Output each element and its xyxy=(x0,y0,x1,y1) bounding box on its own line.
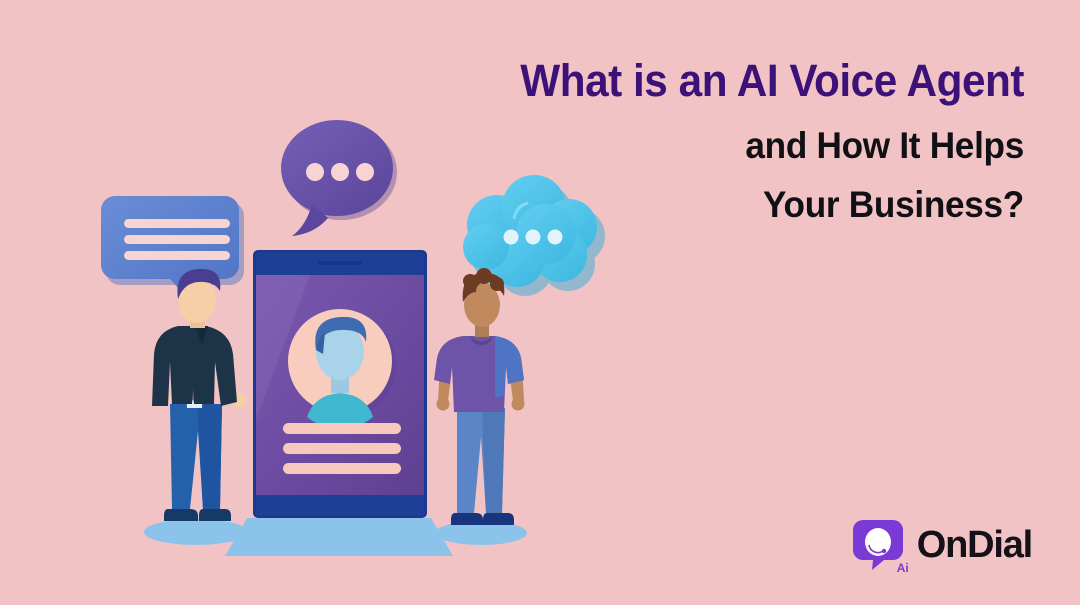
headline-line-2: and How It Helps xyxy=(435,122,1024,169)
headline-line-3: Your Business? xyxy=(435,181,1024,228)
bubble-dot xyxy=(306,163,324,181)
banner-canvas: What is an AI Voice Agent and How It Hel… xyxy=(0,0,1080,600)
headline-line-1: What is an AI Voice Agent xyxy=(441,52,1024,110)
phone-bottom-bar xyxy=(256,495,424,515)
phone-mockup xyxy=(253,250,427,518)
brand-logo[interactable]: Ai OnDial xyxy=(851,518,1032,572)
cloud-dot xyxy=(526,230,541,245)
shadow-left-person xyxy=(144,519,248,545)
screen-text-line xyxy=(283,463,401,474)
casual-person-figure xyxy=(434,268,525,525)
cloud-dot xyxy=(548,230,563,245)
phone-stand xyxy=(225,518,453,556)
businessman-figure xyxy=(152,269,246,521)
logo-wordmark: OnDial xyxy=(917,524,1032,567)
bubble-dot xyxy=(356,163,374,181)
chat-bubble-blue xyxy=(101,196,244,302)
bubble-dot xyxy=(331,163,349,181)
cloud-dot xyxy=(504,230,519,245)
screen-text-line xyxy=(283,423,401,434)
bubble-line xyxy=(124,219,230,228)
headline-block: What is an AI Voice Agent and How It Hel… xyxy=(404,52,1024,228)
logo-mark: Ai xyxy=(851,518,905,572)
phone-speaker xyxy=(318,261,362,265)
bubble-line xyxy=(124,251,230,260)
logo-ai-badge: Ai xyxy=(897,561,909,575)
screen-text-line xyxy=(283,443,401,454)
chat-bubble-purple xyxy=(281,120,397,236)
bubble-line xyxy=(124,235,230,244)
